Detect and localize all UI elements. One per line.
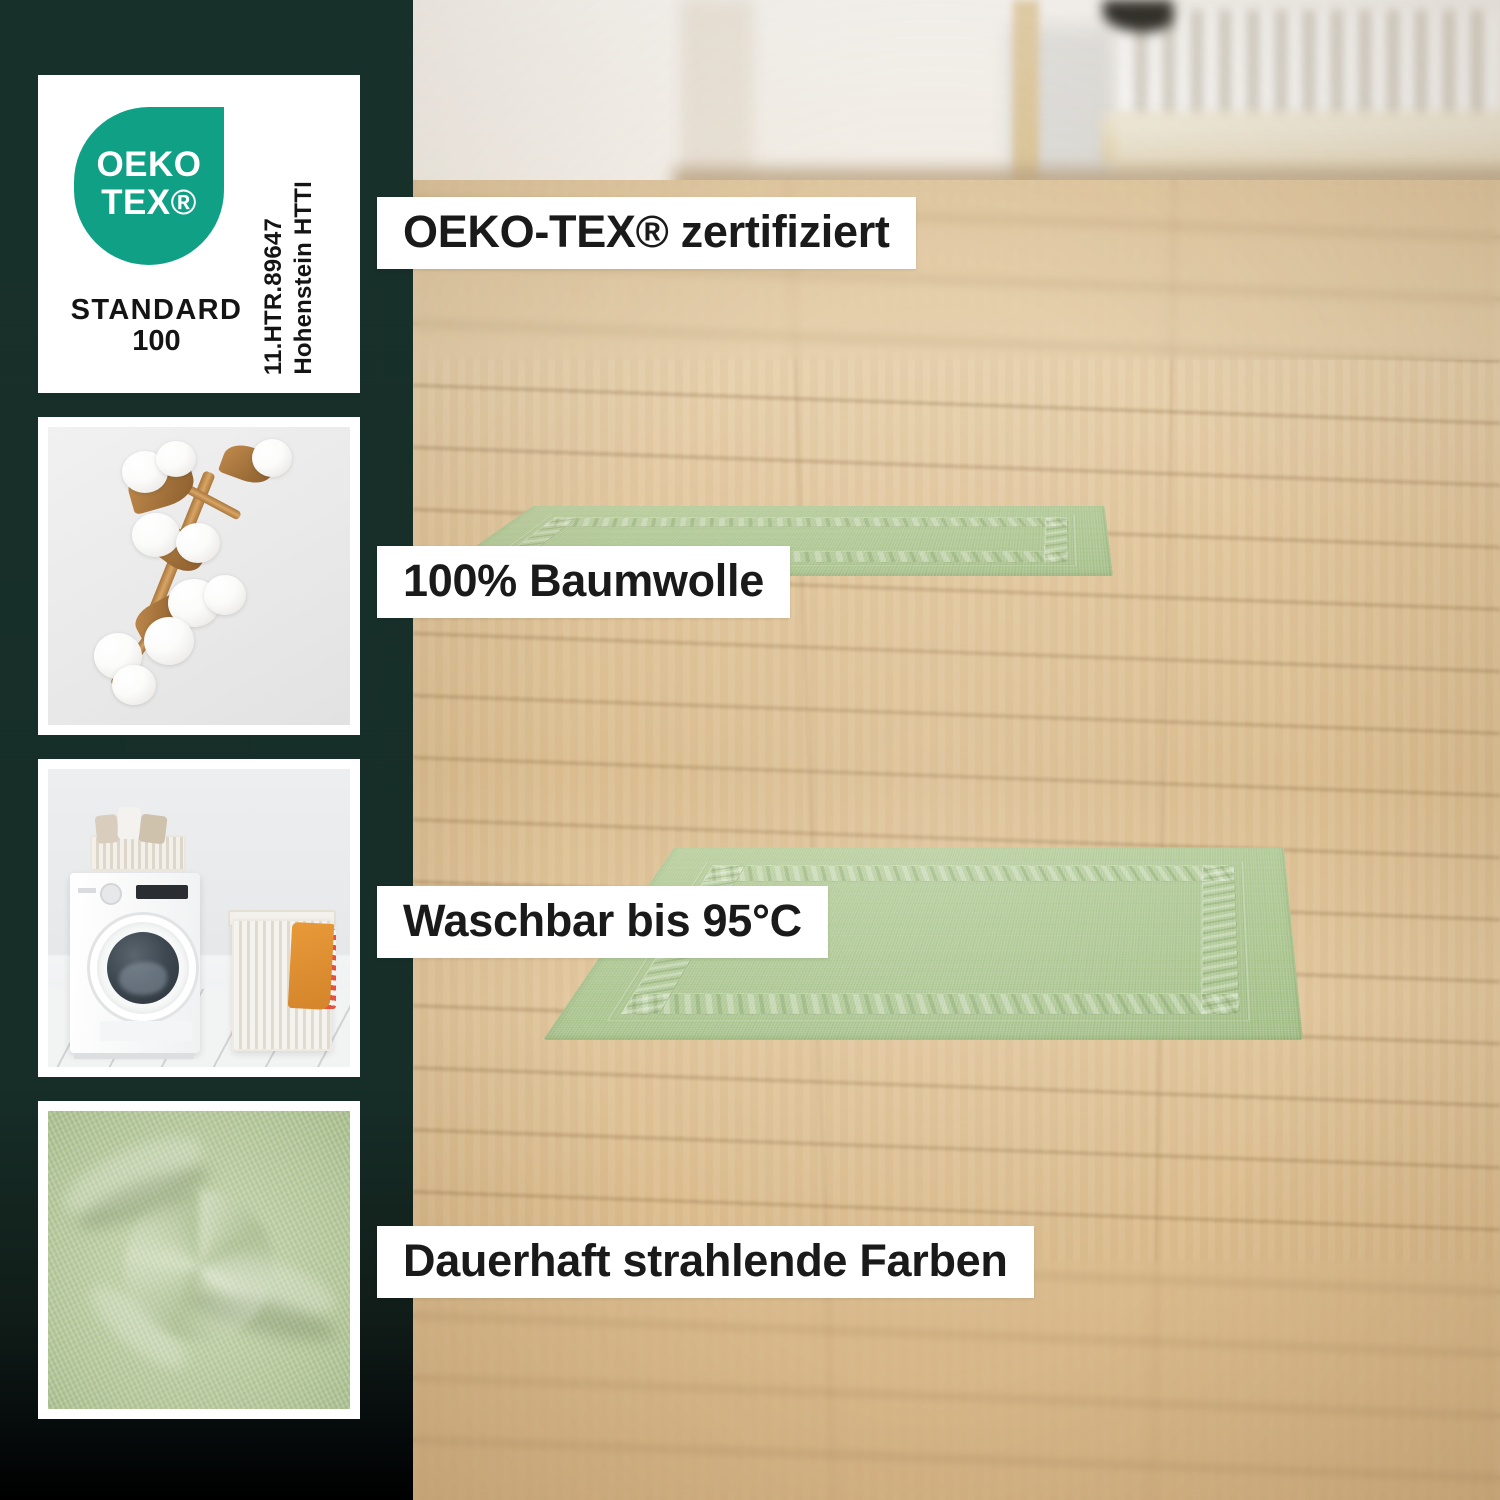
feature-label-oeko-tex: OEKO-TEX® zertifiziert xyxy=(377,197,916,269)
feature-label-colorfast: Dauerhaft strahlende Farben xyxy=(377,1226,1034,1298)
feature-label-overlay: OEKO-TEX® zertifiziert 100% Baumwolle Wa… xyxy=(0,0,1500,1500)
infographic-canvas: OEKO TEX® STANDARD 100 11.HTR.89647 Hohe… xyxy=(0,0,1500,1500)
feature-label-cotton: 100% Baumwolle xyxy=(377,546,790,618)
feature-label-washable: Waschbar bis 95°C xyxy=(377,886,828,958)
